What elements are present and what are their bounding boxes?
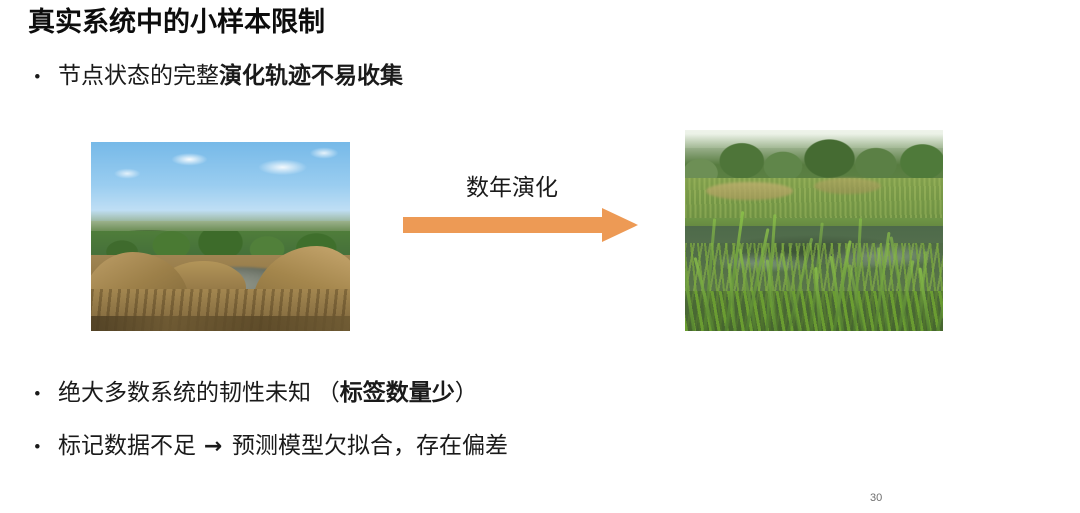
page-number: 30 [870,491,882,505]
bullet-item-1: • 节点状态的完整演化轨迹不易收集 [34,61,403,93]
bullet-1-segment-0: 节点状态的完整 [58,63,219,88]
bullet-marker: • [34,63,58,93]
bullet-2-segment-2: ） [455,380,478,405]
bullet-text-1: 节点状态的完整演化轨迹不易收集 [58,61,403,91]
inline-arrow-icon: → [202,434,226,459]
bullet-text-3: 标记数据不足 → 预测模型欠拟合，存在偏差 [58,431,508,462]
photo-after [685,130,943,331]
photo-before [91,142,350,331]
bullet-2-segment-1: 标签数量少 [340,380,455,405]
bullet-item-3: • 标记数据不足 → 预测模型欠拟合，存在偏差 [34,431,508,463]
bullet-3-segment-0: 标记数据不足 [58,433,202,458]
photo-before-scene [91,142,350,331]
page-title: 真实系统中的小样本限制 [28,6,325,38]
right-arrow-icon [403,208,638,242]
soil-shadow [91,316,350,331]
transition-label: 数年演化 [466,174,558,202]
bullet-marker: • [34,380,58,410]
bullet-2-segment-0: 绝大多数系统的韧性未知 （ [58,380,340,405]
bullet-text-2: 绝大多数系统的韧性未知 （标签数量少） [58,378,478,408]
slide-canvas: 真实系统中的小样本限制 • 节点状态的完整演化轨迹不易收集 数年演化 [0,0,1080,513]
reed-blade [814,267,822,331]
bullet-1-segment-1: 演化轨迹不易收集 [219,63,403,88]
bullet-marker: • [34,433,58,463]
photo-after-scene [685,130,943,331]
bullet-3-segment-2: 预测模型欠拟合，存在偏差 [226,433,508,458]
bullet-item-2: • 绝大多数系统的韧性未知 （标签数量少） [34,378,478,410]
reed-blades [685,130,943,331]
reed-blade [935,245,943,331]
